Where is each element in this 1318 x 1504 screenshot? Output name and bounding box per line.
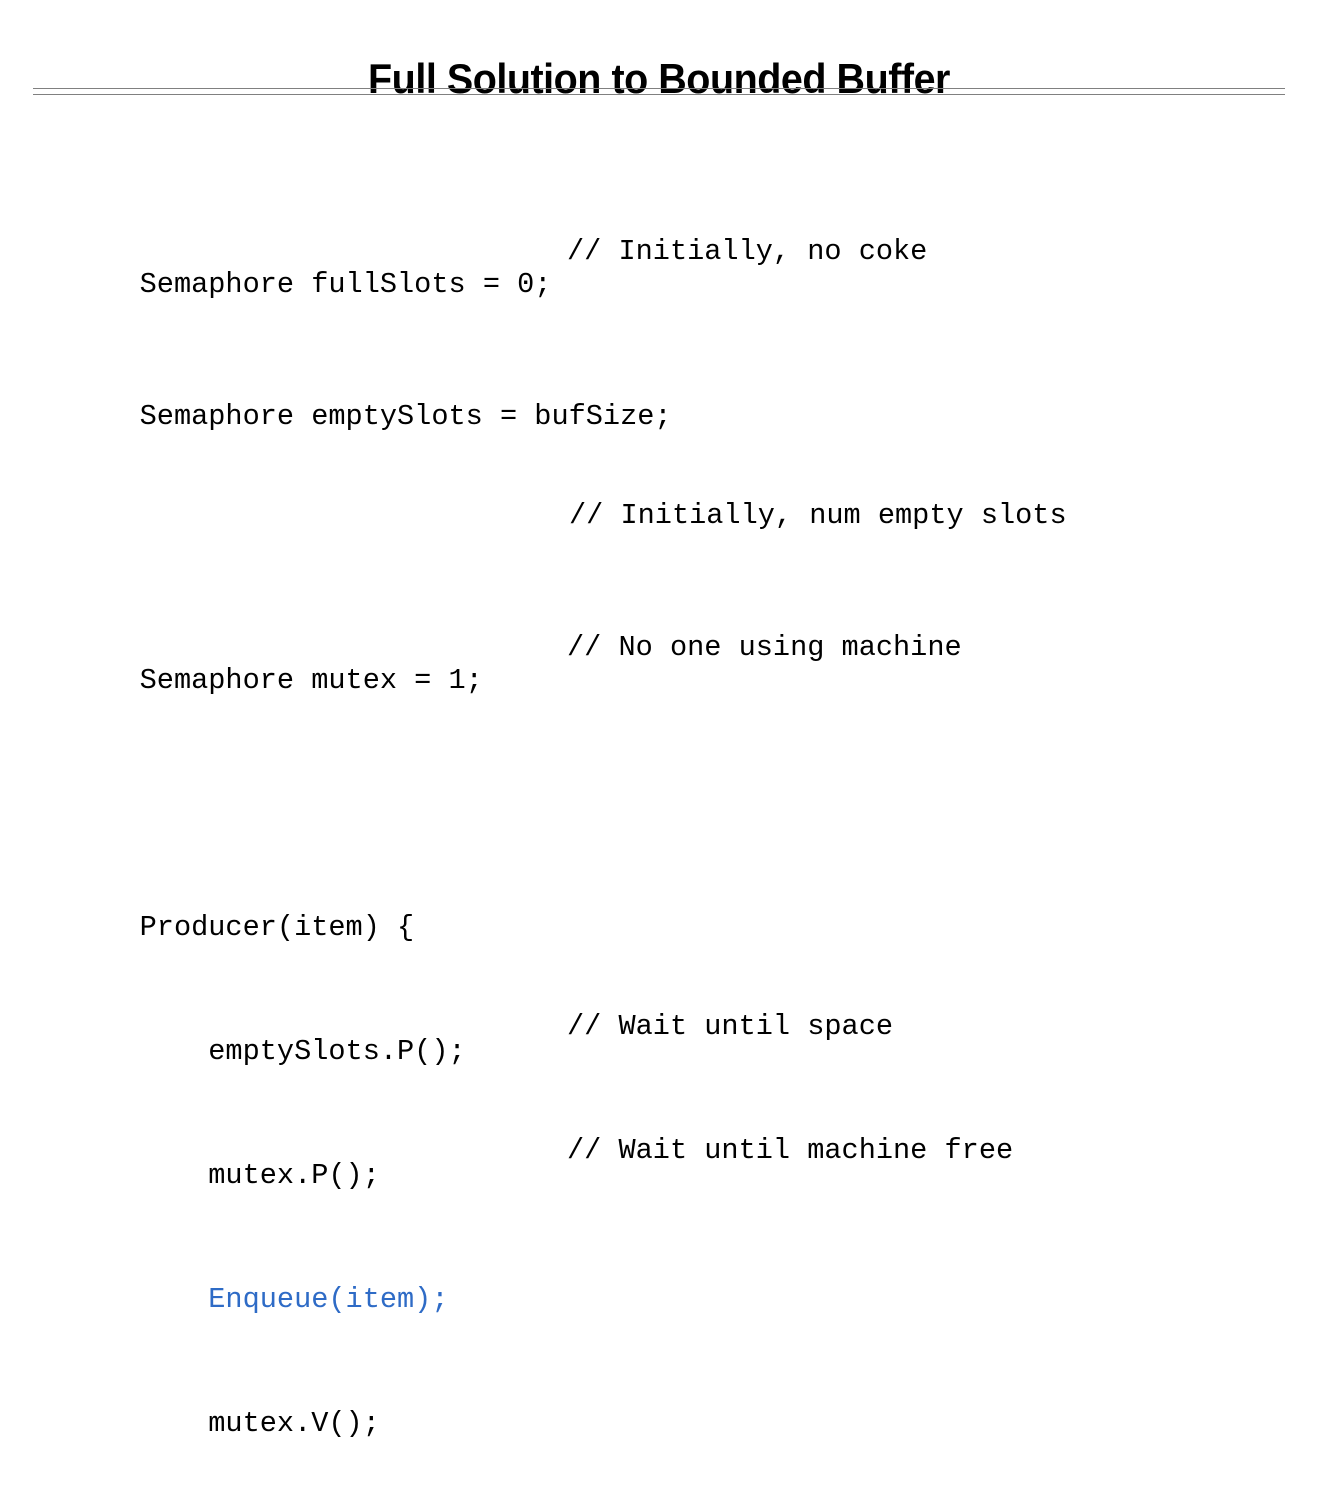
code-statement: emptySlots.P(); [140, 1039, 466, 1064]
code-statement: Producer(item) { [140, 915, 415, 940]
code-line: Semaphore fullSlots = 0; // Initially, n… [71, 235, 1311, 268]
code-comment: // Initially, no coke [567, 235, 927, 268]
code-line: mutex.V(); [71, 1386, 1311, 1411]
title-divider [33, 88, 1285, 95]
code-statement: mutex.V(); [140, 1411, 380, 1436]
code-listing: Semaphore fullSlots = 0; // Initially, n… [71, 169, 1311, 1504]
code-comment: // Initially, num empty slots [569, 499, 1067, 532]
code-statement: Semaphore fullSlots = 0; [140, 268, 552, 301]
code-line: Enqueue(item); [71, 1262, 1311, 1287]
code-comment: // Wait until machine free [567, 1138, 1013, 1163]
code-statement: mutex.P(); [140, 1163, 380, 1188]
code-line: Semaphore emptySlots = bufSize; [71, 367, 1311, 400]
page-title: Full Solution to Bounded Buffer [40, 53, 1279, 105]
divider-line-bottom [33, 94, 1285, 95]
code-line: mutex.P(); // Wait until machine free [71, 1138, 1311, 1163]
code-statement: Semaphore emptySlots = bufSize; [140, 400, 672, 433]
code-comment: // No one using machine [567, 631, 962, 664]
code-line: emptySlots.P(); // Wait until space [71, 1014, 1311, 1039]
code-comment: // Wait until space [567, 1014, 893, 1039]
divider-line-top [33, 88, 1285, 89]
code-line: Producer(item) { [71, 890, 1311, 915]
code-statement: Enqueue(item); [140, 1287, 449, 1312]
code-line-blank [71, 763, 1311, 791]
code-statement: Semaphore mutex = 1; [140, 664, 483, 697]
code-line: // Initially, num empty slots [71, 499, 1311, 532]
code-line: Semaphore mutex = 1; // No one using mac… [71, 631, 1311, 664]
